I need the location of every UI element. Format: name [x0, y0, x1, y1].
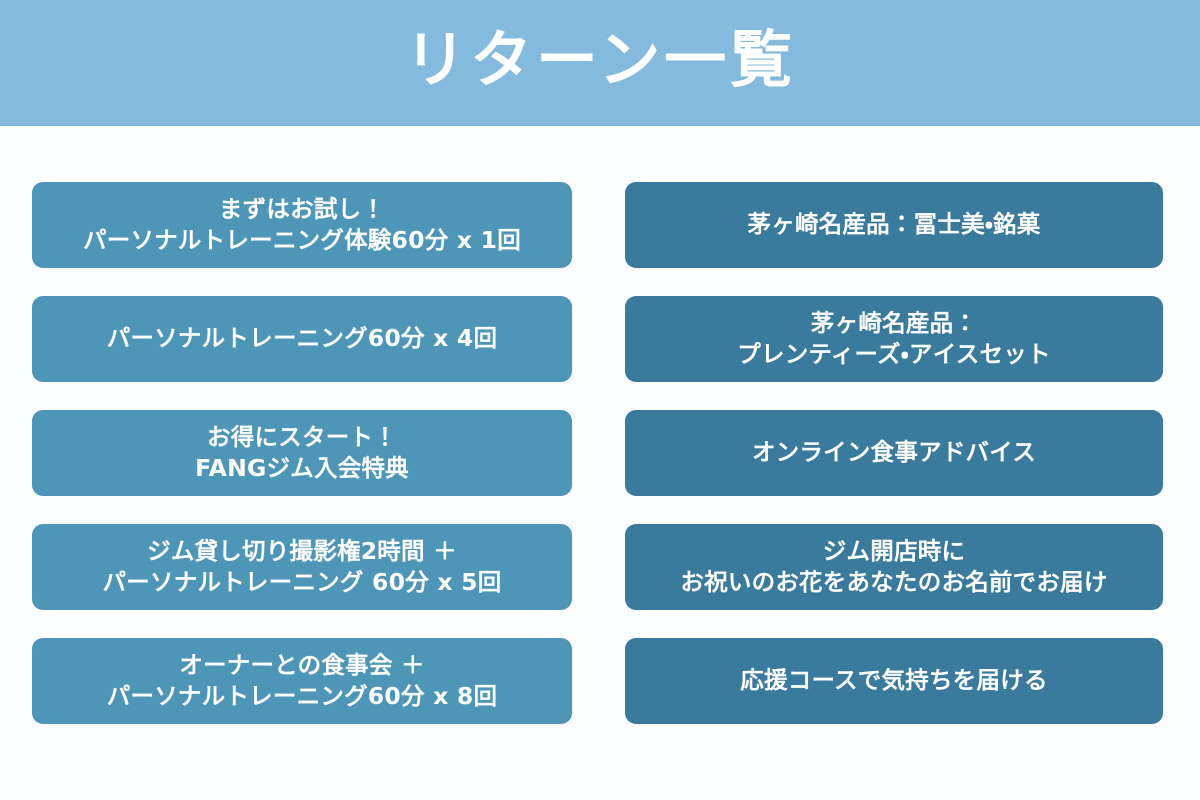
return-list-page: リターン一覧 まずはお試し！ パーソナルトレーニング体験60分 x 1回 パーソ…: [0, 0, 1200, 800]
return-card-grid: まずはお試し！ パーソナルトレーニング体験60分 x 1回 パーソナルトレーニン…: [0, 182, 1200, 724]
return-card-label: 茅ヶ崎名産品：冨士美・銘菓: [639, 209, 1149, 240]
return-column-left: まずはお試し！ パーソナルトレーニング体験60分 x 1回 パーソナルトレーニン…: [32, 182, 572, 724]
return-card[interactable]: 茅ヶ崎名産品：冨士美・銘菓: [625, 182, 1163, 268]
return-card-label: お得にスタート！ FANGジム入会特典: [46, 422, 558, 485]
return-card-label: まずはお試し！ パーソナルトレーニング体験60分 x 1回: [46, 194, 558, 257]
return-column-right: 茅ヶ崎名産品：冨士美・銘菓 茅ヶ崎名産品： プレンティーズ・アイスセット オンラ…: [625, 182, 1163, 724]
return-card-label: オーナーとの食事会 ＋ パーソナルトレーニング60分 x 8回: [46, 650, 558, 713]
return-card[interactable]: ジム貸し切り撮影権2時間 ＋ パーソナルトレーニング 60分 x 5回: [32, 524, 572, 610]
return-card[interactable]: 応援コースで気持ちを届ける: [625, 638, 1163, 724]
return-card[interactable]: オンライン食事アドバイス: [625, 410, 1163, 496]
return-card-label: 茅ヶ崎名産品： プレンティーズ・アイスセット: [639, 308, 1149, 371]
return-card[interactable]: ジム開店時に お祝いのお花をあなたのお名前でお届け: [625, 524, 1163, 610]
return-card-label: ジム開店時に お祝いのお花をあなたのお名前でお届け: [639, 536, 1149, 599]
return-card[interactable]: 茅ヶ崎名産品： プレンティーズ・アイスセット: [625, 296, 1163, 382]
page-title: リターン一覧: [404, 29, 795, 95]
return-card[interactable]: お得にスタート！ FANGジム入会特典: [32, 410, 572, 496]
page-header: リターン一覧: [0, 0, 1200, 126]
return-card[interactable]: パーソナルトレーニング60分 x 4回: [32, 296, 572, 382]
return-card-label: 応援コースで気持ちを届ける: [639, 665, 1149, 696]
return-card-label: ジム貸し切り撮影権2時間 ＋ パーソナルトレーニング 60分 x 5回: [46, 536, 558, 599]
return-card-label: オンライン食事アドバイス: [639, 437, 1149, 468]
return-card[interactable]: まずはお試し！ パーソナルトレーニング体験60分 x 1回: [32, 182, 572, 268]
return-card-label: パーソナルトレーニング60分 x 4回: [46, 323, 558, 354]
return-card[interactable]: オーナーとの食事会 ＋ パーソナルトレーニング60分 x 8回: [32, 638, 572, 724]
